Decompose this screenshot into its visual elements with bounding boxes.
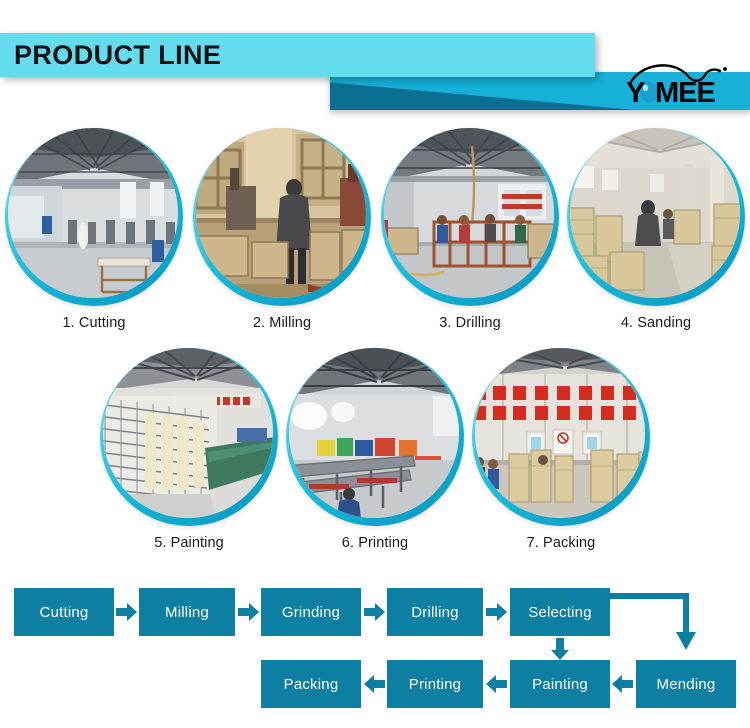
photo-factory-drilling-workshop (384, 128, 554, 298)
step-caption: 7. Packing (472, 535, 650, 551)
photo-ring (193, 128, 371, 306)
photo-ring (5, 128, 183, 306)
process-step-6[interactable]: 6. Printing (286, 348, 476, 551)
photo-clip (384, 128, 554, 298)
photo-ring (100, 348, 278, 526)
arrow-right-icon (116, 603, 137, 621)
photo-ring (567, 128, 745, 306)
photo-ring (286, 348, 464, 526)
photo-ring (381, 128, 559, 306)
photo-factory-milling-workshop (196, 128, 366, 298)
arrow-left-icon (612, 675, 633, 693)
flow-box-cutting[interactable]: Cutting (14, 588, 114, 636)
step-caption: 4. Sanding (567, 315, 745, 331)
photo-factory-painting-line (103, 348, 273, 518)
photo-clip (475, 348, 645, 518)
connector-selecting-to-mending (610, 588, 700, 658)
flow-box-mending[interactable]: Mending (636, 660, 736, 708)
process-step-5[interactable]: 5. Painting (100, 348, 290, 551)
flow-box-milling[interactable]: Milling (139, 588, 235, 636)
arrow-right-icon (238, 603, 259, 621)
process-step-1[interactable]: 1. Cutting (5, 128, 195, 331)
photo-clip (103, 348, 273, 518)
step-caption: 5. Painting (100, 535, 278, 551)
photo-clip (570, 128, 740, 298)
photo-factory-packing-area (475, 348, 645, 518)
process-flowchart: Cutting Milling Grinding Drilling Select… (0, 562, 750, 728)
flow-box-selecting[interactable]: Selecting (510, 588, 610, 636)
photo-factory-cutting-workshop (8, 128, 178, 298)
flow-box-painting[interactable]: Painting (510, 660, 610, 708)
process-step-4[interactable]: 4. Sanding (567, 128, 750, 331)
step-caption: 6. Printing (286, 535, 464, 551)
flow-box-drilling[interactable]: Drilling (387, 588, 483, 636)
photo-clip (8, 128, 178, 298)
process-photo-grid: 1. Cutting (0, 0, 750, 570)
arrow-left-icon (364, 675, 385, 693)
process-step-7[interactable]: 7. Packing (472, 348, 662, 551)
product-line-page: PRODUCT LINE Y MEE (0, 0, 750, 728)
flow-box-printing[interactable]: Printing (387, 660, 483, 708)
process-step-2[interactable]: 2. Milling (193, 128, 383, 331)
photo-ring (472, 348, 650, 526)
photo-clip (289, 348, 459, 518)
photo-factory-sanding-workshop (570, 128, 740, 298)
step-caption: 2. Milling (193, 315, 371, 331)
process-step-3[interactable]: 3. Drilling (381, 128, 571, 331)
flow-box-packing[interactable]: Packing (261, 660, 361, 708)
step-caption: 1. Cutting (5, 315, 183, 331)
arrow-down-icon (551, 638, 569, 660)
step-caption: 3. Drilling (381, 315, 559, 331)
flow-box-grinding[interactable]: Grinding (261, 588, 361, 636)
photo-factory-printing-line (289, 348, 459, 518)
arrow-right-icon (486, 603, 507, 621)
photo-clip (196, 128, 366, 298)
arrow-left-icon (486, 675, 507, 693)
arrow-right-icon (364, 603, 385, 621)
